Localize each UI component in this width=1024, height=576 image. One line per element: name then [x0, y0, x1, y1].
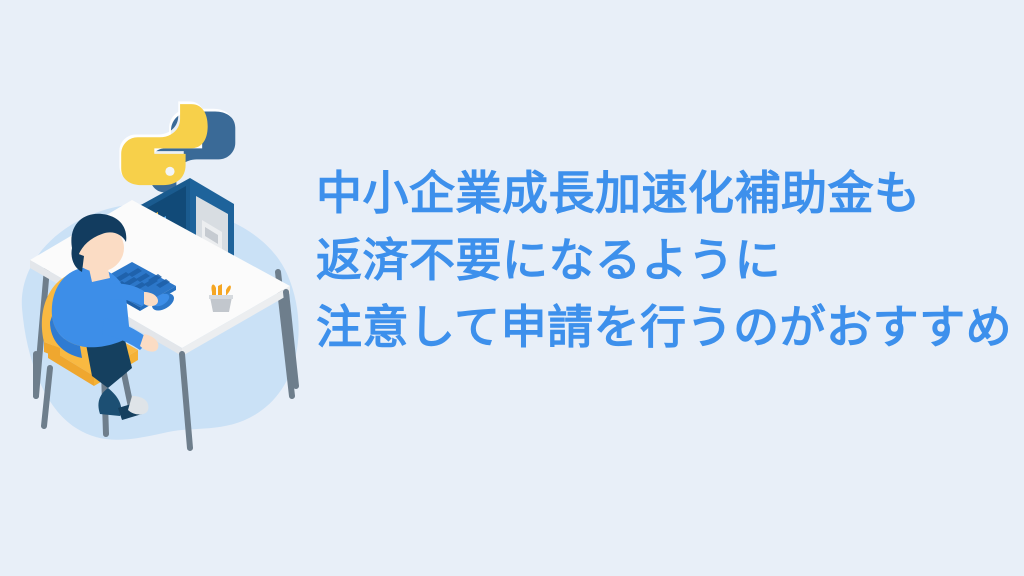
headline-block: 中小企業成長加速化補助金も 返済不要になるように 注意して申請を行うのがおすすめ	[316, 160, 1016, 361]
headline-line-3: 注意して申請を行うのがおすすめ	[316, 294, 1016, 361]
plant-cactus-icon	[209, 284, 233, 312]
headline-line-1: 中小企業成長加速化補助金も	[316, 160, 1016, 227]
banner-root: 中小企業成長加速化補助金も 返済不要になるように 注意して申請を行うのがおすすめ	[0, 0, 1024, 576]
illustration-developer-at-desk	[0, 96, 320, 456]
python-logo-icon	[119, 101, 235, 192]
headline-line-2: 返済不要になるように	[316, 227, 1016, 294]
